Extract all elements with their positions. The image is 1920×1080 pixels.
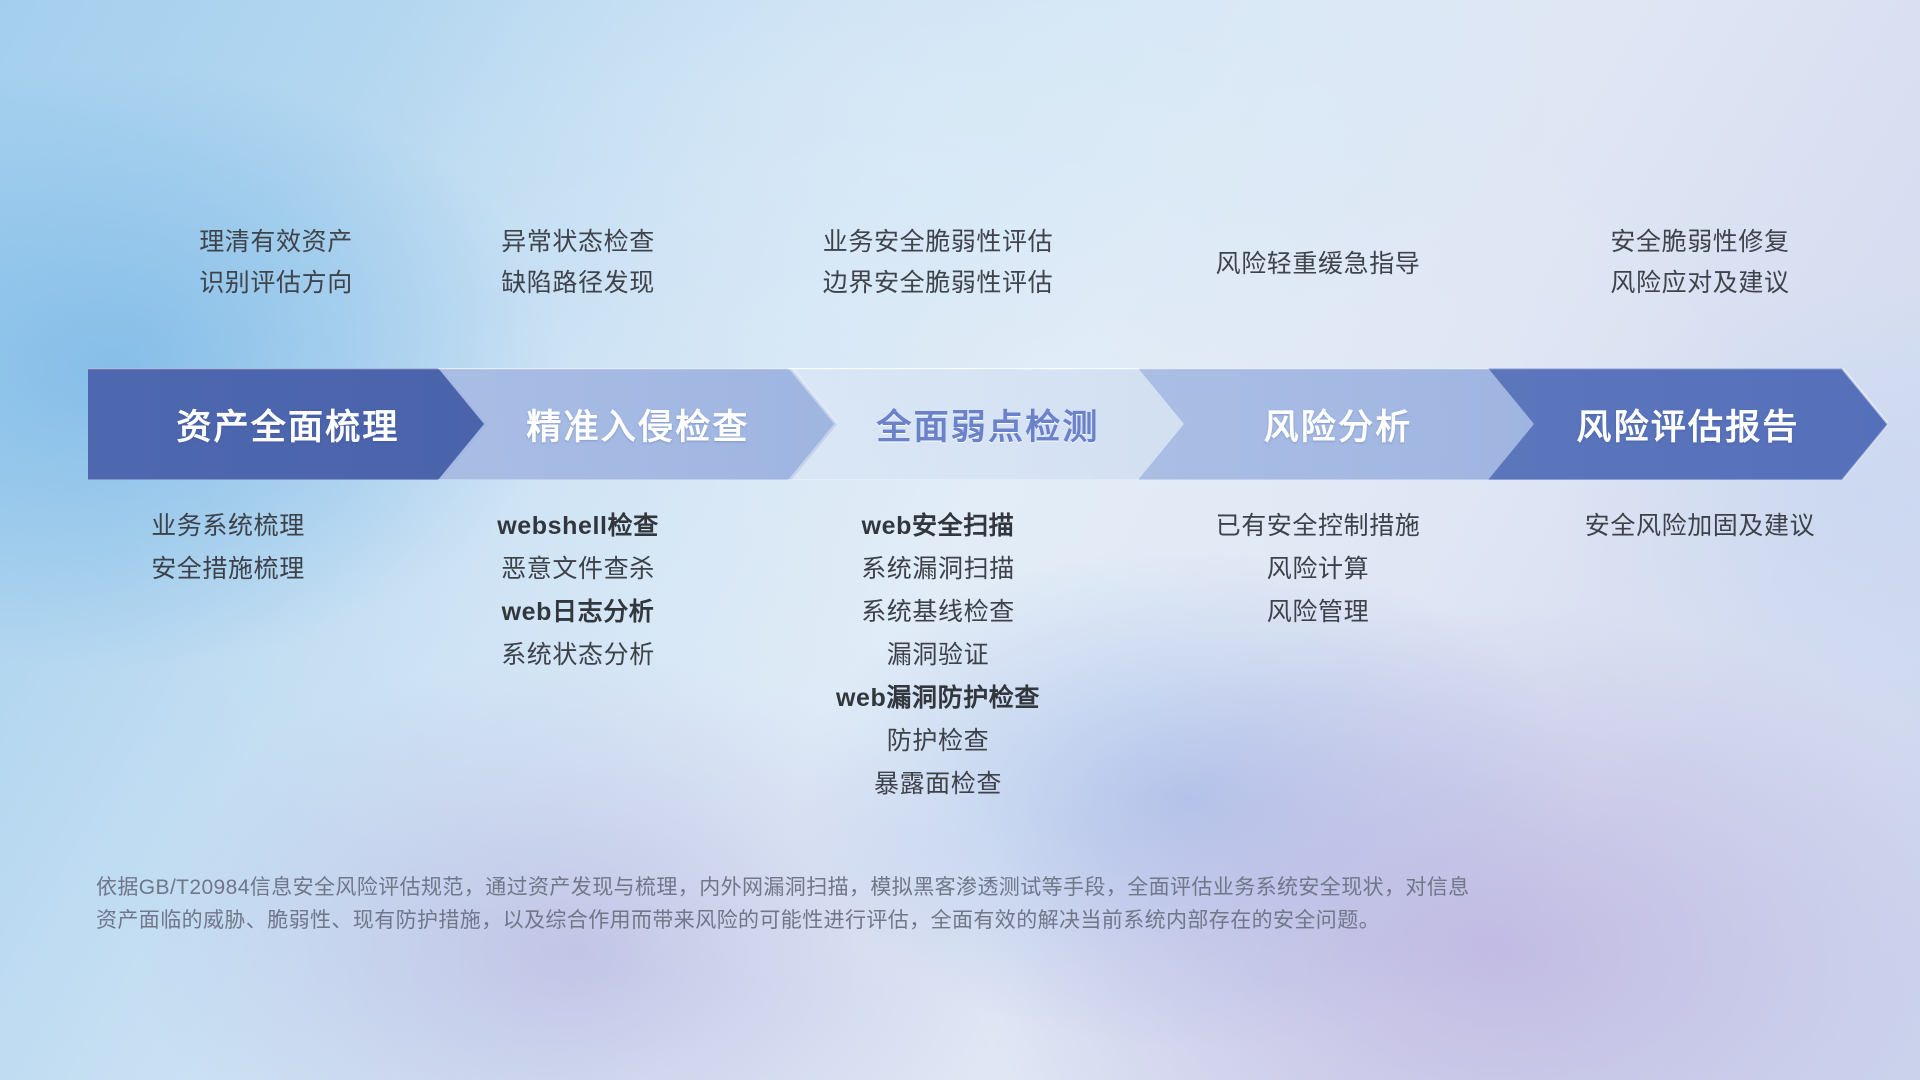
slide-canvas: 理清有效资产识别评估方向异常状态检查缺陷路径发现业务安全脆弱性评估边界安全脆弱性… bbox=[0, 0, 1920, 1080]
lower-label: web日志分析 bbox=[502, 598, 655, 626]
stage-title-weakness-detection: 全面弱点检测 bbox=[876, 399, 1099, 450]
upper-label: 缺陷路径发现 bbox=[501, 269, 655, 297]
lower-label-group-assessment-report: 安全风险加固及建议 bbox=[1500, 512, 1900, 540]
process-stage-weakness-detection[interactable]: 全面弱点检测 bbox=[788, 368, 1188, 480]
upper-label: 异常状态检查 bbox=[501, 228, 655, 256]
stage-title-intrusion-check: 精准入侵检查 bbox=[526, 399, 749, 450]
upper-label: 安全脆弱性修复 bbox=[1610, 228, 1789, 256]
lower-label: 已有安全控制措施 bbox=[1216, 512, 1421, 540]
lower-label: webshell检查 bbox=[497, 512, 659, 540]
process-stage-intrusion-check[interactable]: 精准入侵检查 bbox=[438, 368, 838, 480]
lower-label: 系统基线检查 bbox=[861, 598, 1015, 626]
lower-label: 暴露面检查 bbox=[874, 770, 1002, 798]
lower-label: 系统漏洞扫描 bbox=[861, 555, 1015, 583]
upper-label: 识别评估方向 bbox=[199, 269, 353, 297]
process-stage-risk-analysis[interactable]: 风险分析 bbox=[1138, 368, 1538, 480]
footer-description: 依据GB/T20984信息安全风险评估规范，通过资产发现与梳理，内外网漏洞扫描，… bbox=[96, 872, 1696, 937]
upper-label-group-intrusion-check: 异常状态检查缺陷路径发现 bbox=[398, 228, 758, 297]
upper-label-group-risk-analysis: 风险轻重缓急指导 bbox=[1138, 228, 1498, 278]
stage-title-asset-inventory: 资产全面梳理 bbox=[176, 399, 399, 450]
lower-label-group-weakness-detection: web安全扫描系统漏洞扫描系统基线检查漏洞验证web漏洞防护检查防护检查暴露面检… bbox=[748, 512, 1128, 798]
lower-label-group-intrusion-check: webshell检查恶意文件查杀web日志分析系统状态分析 bbox=[398, 512, 758, 669]
process-stage-assessment-report[interactable]: 风险评估报告 bbox=[1488, 368, 1888, 480]
lower-label: 安全风险加固及建议 bbox=[1585, 512, 1815, 540]
upper-label: 风险轻重缓急指导 bbox=[1216, 250, 1421, 278]
upper-label: 理清有效资产 bbox=[199, 228, 353, 256]
lower-label: 漏洞验证 bbox=[887, 641, 989, 669]
upper-label: 业务安全脆弱性评估 bbox=[823, 228, 1053, 256]
lower-label: 业务系统梳理 bbox=[151, 512, 305, 540]
lower-label: web安全扫描 bbox=[862, 512, 1015, 540]
stage-title-risk-analysis: 风险分析 bbox=[1264, 399, 1413, 450]
footer-line-1: 依据GB/T20984信息安全风险评估规范，通过资产发现与梳理，内外网漏洞扫描，… bbox=[96, 872, 1696, 905]
upper-label-group-weakness-detection: 业务安全脆弱性评估边界安全脆弱性评估 bbox=[748, 228, 1128, 297]
lower-label: 系统状态分析 bbox=[501, 641, 655, 669]
upper-label: 风险应对及建议 bbox=[1610, 269, 1789, 297]
upper-label-group-assessment-report: 安全脆弱性修复风险应对及建议 bbox=[1500, 228, 1900, 297]
upper-label: 边界安全脆弱性评估 bbox=[823, 269, 1053, 297]
lower-label: 风险计算 bbox=[1267, 555, 1369, 583]
lower-label: 恶意文件查杀 bbox=[501, 555, 655, 583]
footer-line-2: 资产面临的威胁、脆弱性、现有防护措施，以及综合作用而带来风险的可能性进行评估，全… bbox=[96, 905, 1696, 938]
lower-label: 安全措施梳理 bbox=[151, 555, 305, 583]
process-stage-asset-inventory[interactable]: 资产全面梳理 bbox=[88, 368, 488, 480]
lower-label-group-risk-analysis: 已有安全控制措施风险计算风险管理 bbox=[1138, 512, 1498, 626]
process-arrow-band: 资产全面梳理精准入侵检查全面弱点检测风险分析风险评估报告 bbox=[0, 368, 1920, 480]
stage-title-assessment-report: 风险评估报告 bbox=[1576, 399, 1799, 450]
lower-label: 防护检查 bbox=[887, 727, 989, 755]
diagram-content: 理清有效资产识别评估方向异常状态检查缺陷路径发现业务安全脆弱性评估边界安全脆弱性… bbox=[0, 0, 1920, 1080]
lower-label: 风险管理 bbox=[1267, 598, 1369, 626]
lower-label-group-asset-inventory: 业务系统梳理安全措施梳理 bbox=[48, 512, 408, 583]
lower-label: web漏洞防护检查 bbox=[836, 684, 1040, 712]
